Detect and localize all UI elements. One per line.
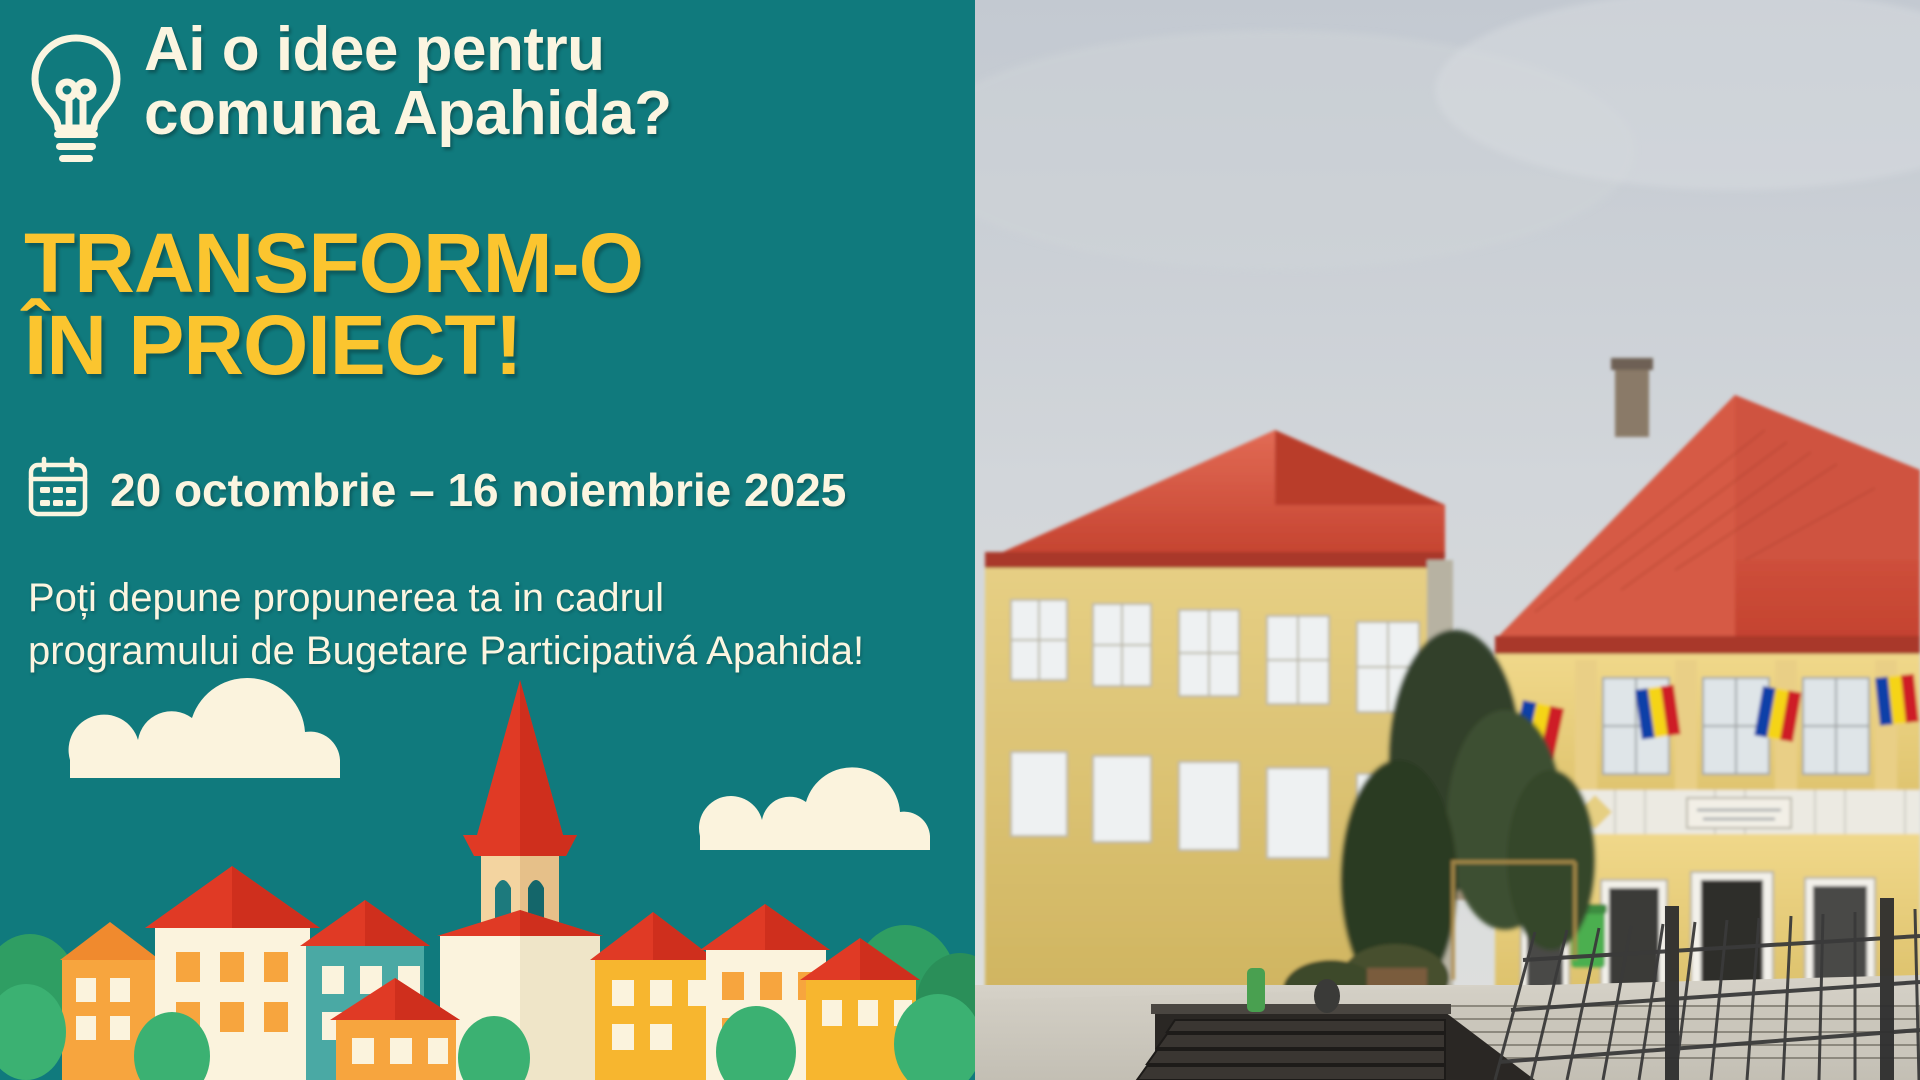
village-skyline-illustration xyxy=(0,660,975,1080)
body-line-1: Poți depune propunerea ta in cadrul xyxy=(28,572,958,625)
page-headline: Ai o idee pentru comuna Apahida? xyxy=(130,18,672,146)
poster-root: Ai o idee pentru comuna Apahida? TRANSFO… xyxy=(0,0,1920,1080)
calendar-icon xyxy=(26,455,90,524)
headline-line-2: comuna Apahida? xyxy=(144,82,672,146)
cloud-right xyxy=(699,767,930,850)
left-info-panel: Ai o idee pentru comuna Apahida? TRANSFO… xyxy=(0,0,975,1080)
apahida-school-building-photo xyxy=(975,0,1920,1080)
date-range-text: 20 octombrie – 16 noiembrie 2025 xyxy=(110,463,846,517)
headline-line-1: Ai o idee pentru xyxy=(144,18,672,82)
title-line-1: TRANSFORM-O xyxy=(24,222,964,304)
photo-panel xyxy=(975,0,1920,1080)
house-right-yellow xyxy=(590,912,716,1080)
church-building xyxy=(437,680,603,1080)
title-line-2: ÎN PROIECT! xyxy=(24,304,964,386)
lightbulb-icon xyxy=(22,32,130,173)
headline-row: Ai o idee pentru comuna Apahida? xyxy=(22,18,962,173)
main-title: TRANSFORM-O ÎN PROIECT! xyxy=(24,222,964,387)
cloud-left xyxy=(69,678,340,778)
date-row: 20 octombrie – 16 noiembrie 2025 xyxy=(26,455,846,524)
